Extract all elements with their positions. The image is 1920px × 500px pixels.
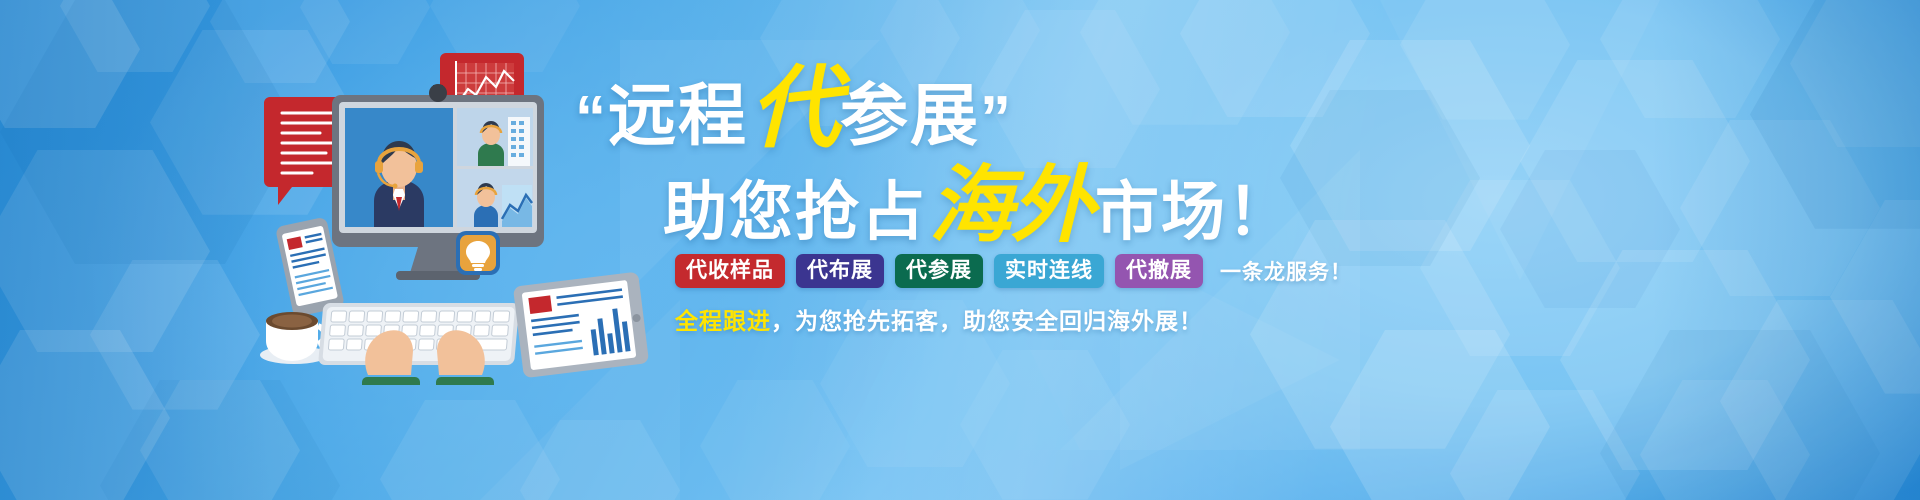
monitor-icon [332,84,544,280]
headline-2-brush-chars: 海外 [927,155,1095,254]
service-pill-3[interactable]: 实时连线 [994,254,1104,288]
pills-suffix-label: 一条龙服务！ [1220,256,1352,286]
keyboard-icon [318,303,519,365]
service-pill-1[interactable]: 代布展 [796,254,884,288]
quote-close: ” [980,84,1013,153]
service-pill-2[interactable]: 代参展 [895,254,983,288]
lightbulb-badge-icon [456,231,500,275]
promo-banner: (function(){ var layer=document.currentS… [0,0,1920,500]
service-pill-list: 代收样品代布展代参展实时连线代撤展一条龙服务！ [675,254,1352,288]
headline-2-part-2: 市场！ [1095,176,1293,248]
sub-tagline-highlight: 全程跟进 [675,308,771,334]
headline-line-1: “远程代参展” [575,62,1215,154]
headline-2-part-1: 助您抢占 [663,176,927,248]
headline-line-2: 助您抢占海外市场！ [663,162,1223,248]
service-pill-4[interactable]: 代撤展 [1115,254,1203,288]
service-pill-0[interactable]: 代收样品 [675,254,785,288]
quote-open: “ [575,84,608,153]
headline-1-brush-char: 代 [748,55,840,161]
banner-copy: “远程代参展” 助您抢占海外市场！ 代收样品代布展代参展实时连线代撤展一条龙服务… [575,62,1215,422]
headline-1-part-2: 参展 [840,78,980,154]
headline-1-part-1: 远程 [608,78,748,154]
sub-tagline: 全程跟进，为您抢先拓客，助您安全回归海外展！ [675,302,1203,336]
coffee-cup-icon [260,312,328,364]
sub-tagline-rest: ，为您抢先拓客，助您安全回归海外展！ [771,308,1203,334]
